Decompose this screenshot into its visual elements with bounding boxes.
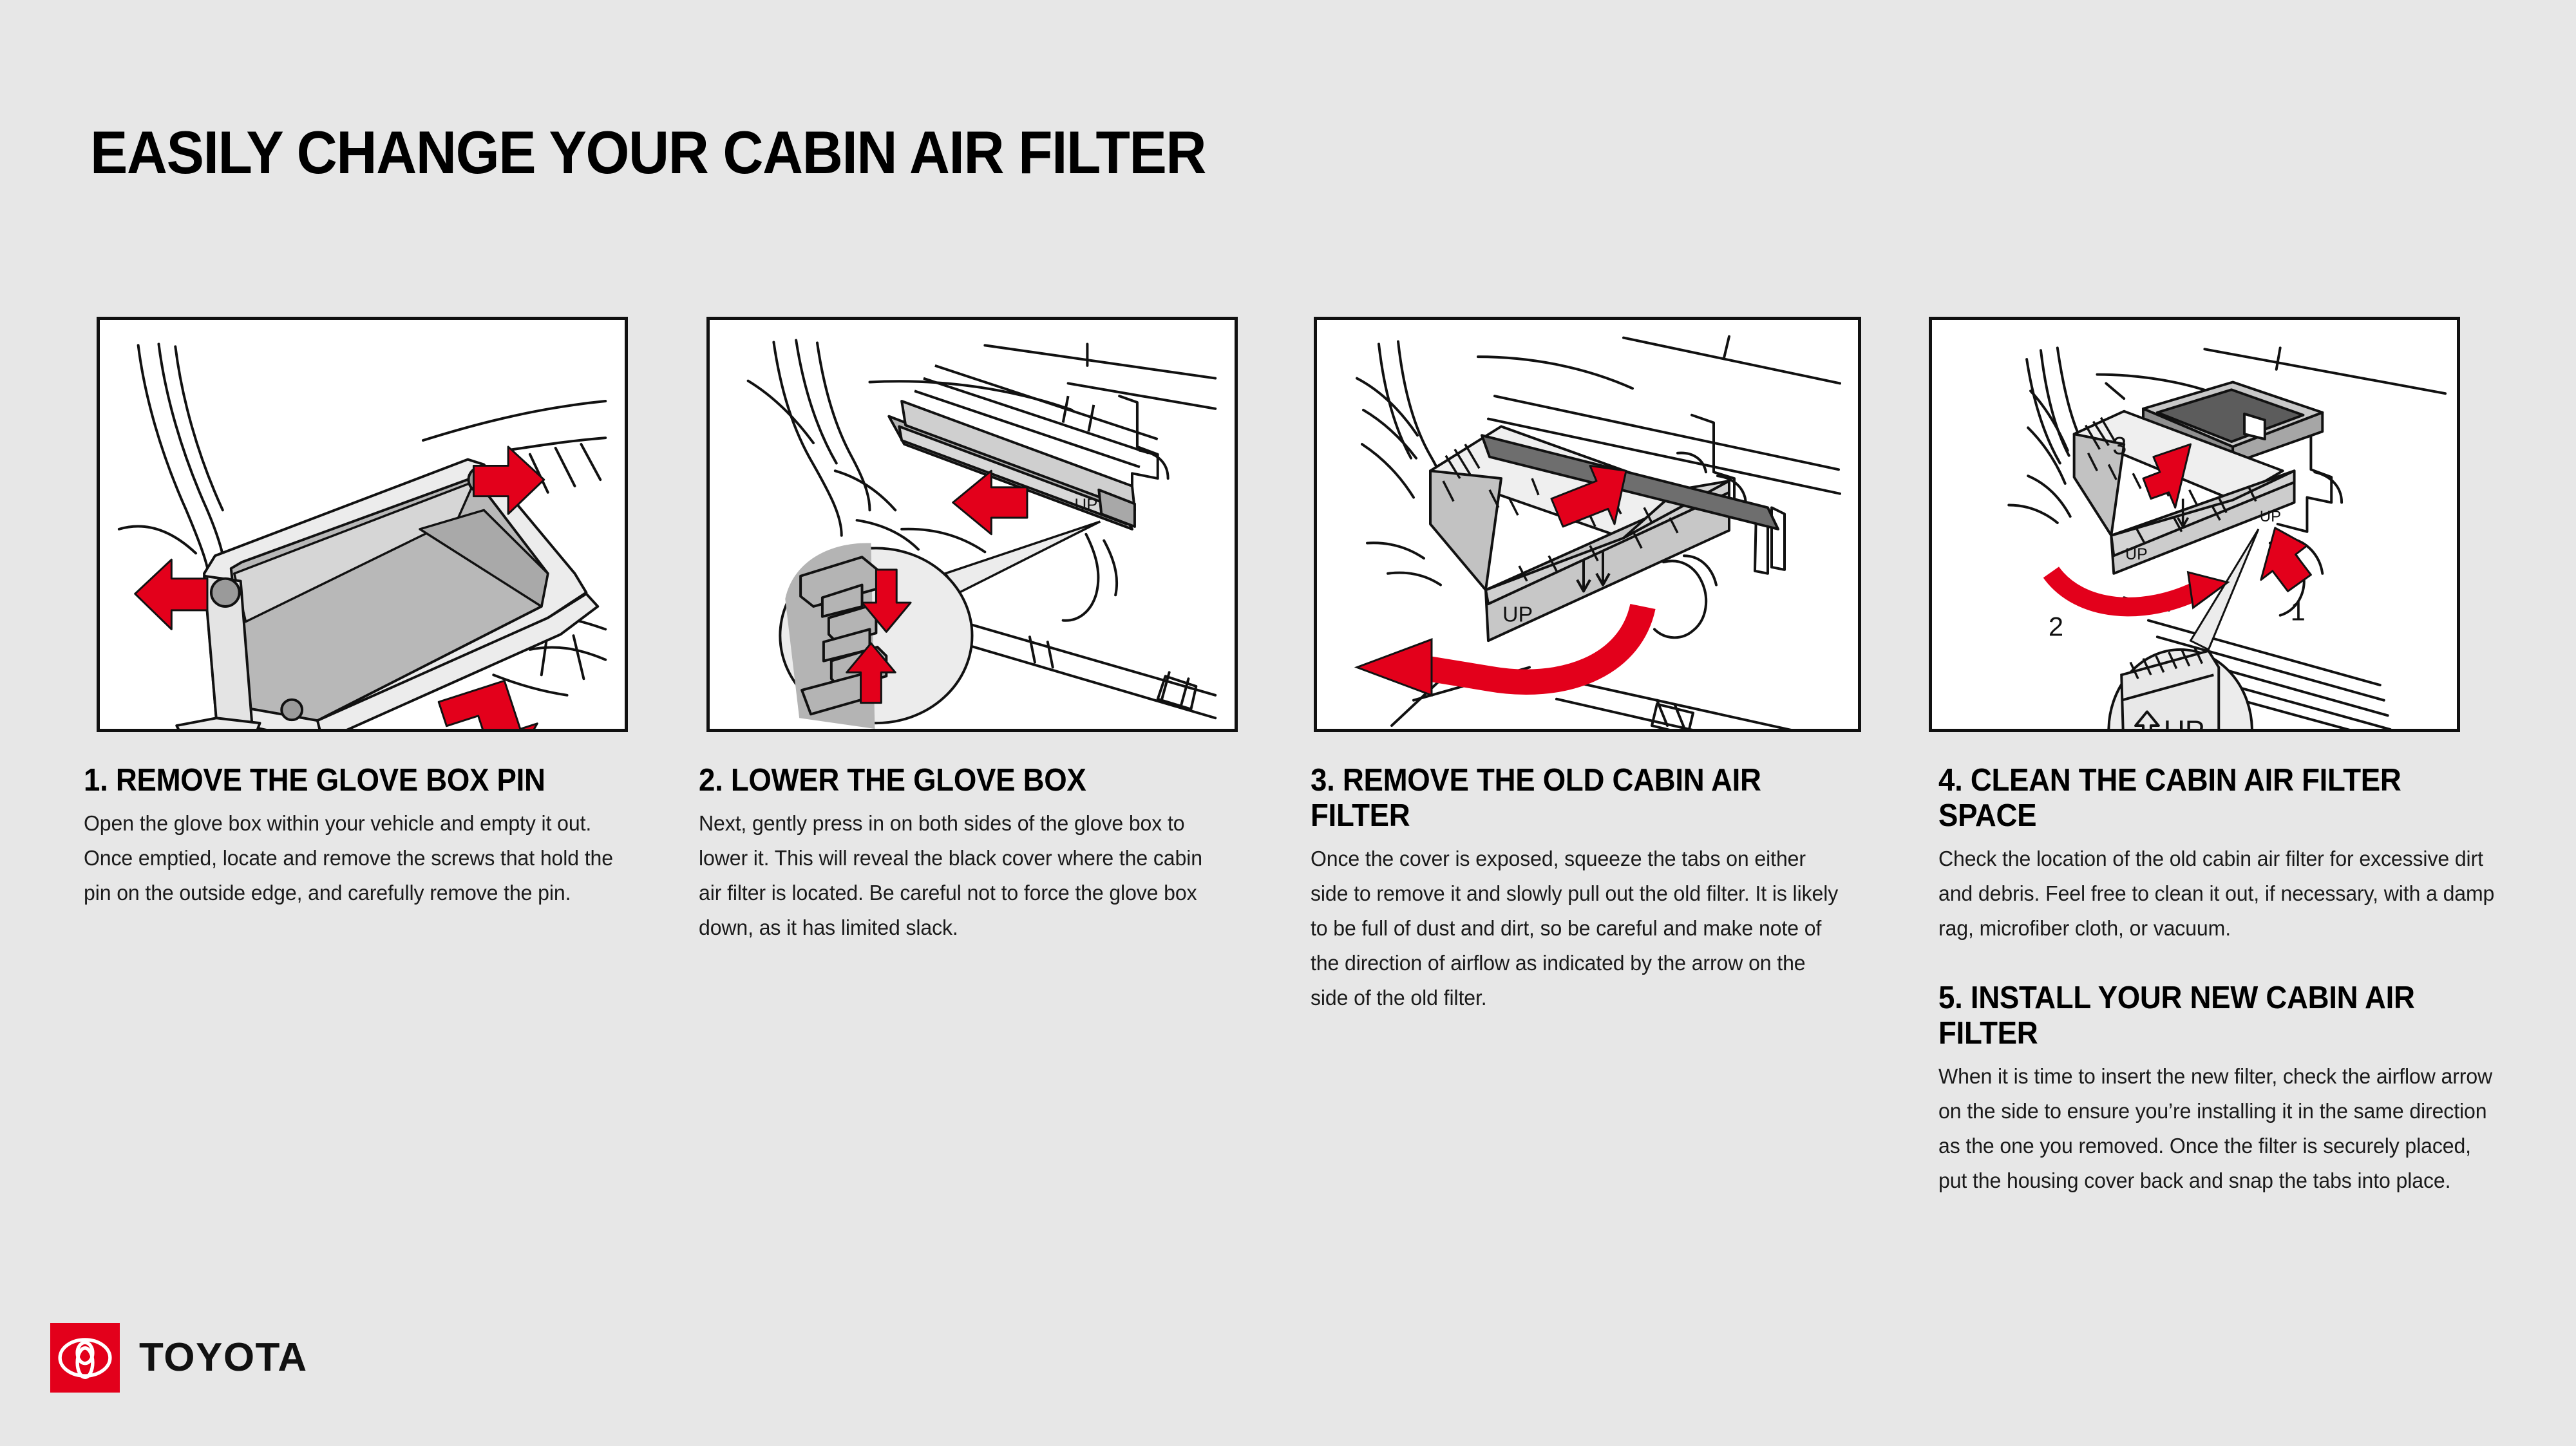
step-3-body: Once the cover is exposed, squeeze the t…: [1311, 841, 1848, 1016]
step-4-body: Check the location of the old cabin air …: [1938, 841, 2501, 946]
step-5-body: When it is time to insert the new filter…: [1938, 1059, 2501, 1198]
callout-number-2: 2: [2049, 611, 2063, 641]
callout-number-1: 1: [2291, 596, 2306, 626]
magnified-up-arrow-detail: UP: [2108, 647, 2252, 729]
caption-column-1: 1. REMOVE THE GLOVE BOX PIN Open the glo…: [84, 763, 650, 910]
panel-4-frame: 3 UP UP 1 2: [1929, 317, 2460, 732]
caption-column-4: 4. CLEAN THE CABIN AIR FILTER SPACE Chec…: [1938, 763, 2518, 1198]
toyota-wordmark: TOYOTA: [139, 1338, 308, 1378]
illustration-panel-row: UP: [0, 0, 2576, 1446]
step-3-heading: 3. REMOVE THE OLD CABIN AIR FILTER: [1311, 763, 1826, 834]
up-label: UP: [2260, 509, 2281, 525]
step-1-body: Open the glove box within your vehicle a…: [84, 806, 634, 910]
up-label: UP: [2125, 546, 2148, 563]
step-2-body: Next, gently press in on both sides of t…: [699, 806, 1230, 945]
up-label: UP: [1075, 496, 1098, 514]
callout-number-3: 3: [2112, 432, 2126, 460]
toyota-emblem-icon: [50, 1323, 120, 1393]
panel-1-glove-box-pin: [97, 317, 628, 732]
step-5-heading: 5. INSTALL YOUR NEW CABIN AIR FILTER: [1938, 981, 2477, 1051]
step-3: 3. REMOVE THE OLD CABIN AIR FILTER Once …: [1311, 763, 1864, 1015]
step-4: 4. CLEAN THE CABIN AIR FILTER SPACE Chec…: [1938, 763, 2518, 946]
step-4-heading: 4. CLEAN THE CABIN AIR FILTER SPACE: [1938, 763, 2477, 834]
panel-4-clean-and-install: 3 UP UP 1 2: [1929, 317, 2460, 732]
red-curved-arrow: [2051, 572, 2228, 608]
step-1: 1. REMOVE THE GLOVE BOX PIN Open the glo…: [84, 763, 650, 910]
panel-3-remove-old-filter: UP: [1314, 317, 1861, 732]
panel-3-frame: UP: [1314, 317, 1861, 732]
magnified-tab-detail: [780, 543, 972, 729]
panel-1-frame: [97, 317, 628, 732]
step-2-heading: 2. LOWER THE GLOVE BOX: [699, 763, 1208, 798]
step-2: 2. LOWER THE GLOVE BOX Next, gently pres…: [699, 763, 1246, 945]
step-5: 5. INSTALL YOUR NEW CABIN AIR FILTER Whe…: [1938, 981, 2518, 1198]
step-1-heading: 1. REMOVE THE GLOVE BOX PIN: [84, 763, 611, 798]
panel-2-frame: UP: [706, 317, 1238, 732]
caption-column-2: 2. LOWER THE GLOVE BOX Next, gently pres…: [699, 763, 1246, 945]
panel-2-lower-glove-box: UP: [706, 317, 1238, 732]
toyota-brand-logo: TOYOTA: [50, 1323, 308, 1393]
up-label: UP: [2164, 715, 2205, 729]
up-label: UP: [1502, 603, 1533, 627]
caption-column-3: 3. REMOVE THE OLD CABIN AIR FILTER Once …: [1311, 763, 1864, 1015]
